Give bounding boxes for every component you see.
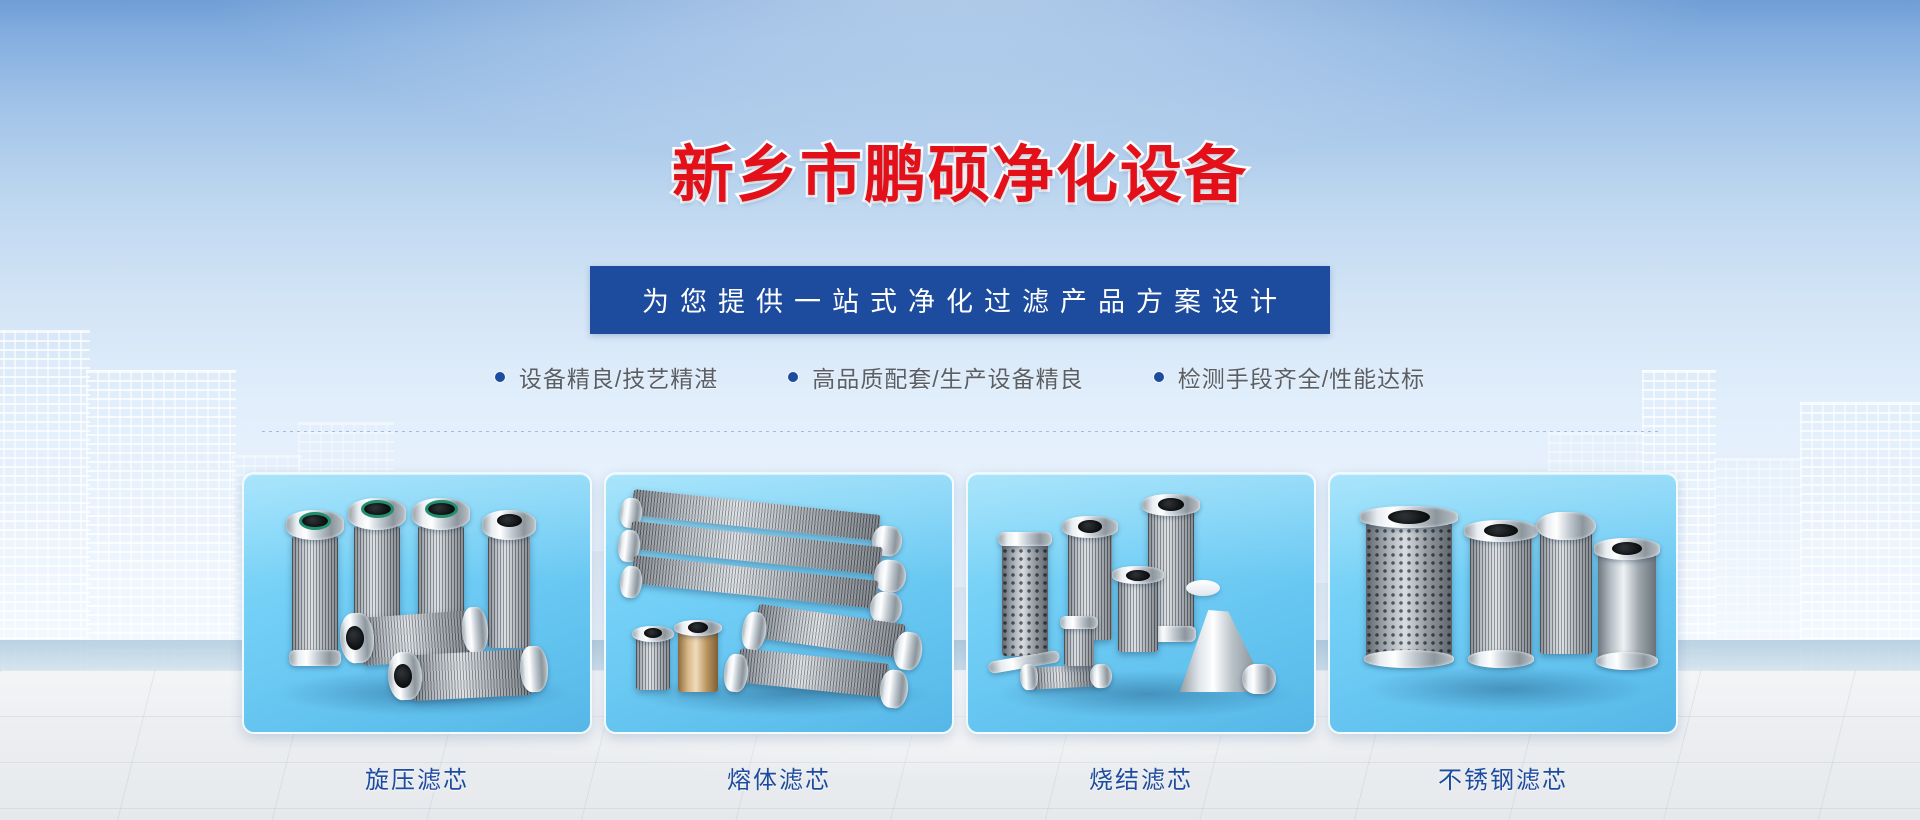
feature-item-1: 设备精良/技艺精湛 — [495, 360, 718, 394]
product-card-2[interactable]: 熔体滤芯 — [604, 472, 954, 795]
product-image-stainless-steel-filter-elements[interactable] — [1328, 472, 1678, 734]
dotted-divider — [262, 431, 1662, 432]
product-card-1[interactable]: 旋压滤芯 — [242, 472, 592, 795]
product-card-3[interactable]: 烧结滤芯 — [966, 472, 1316, 795]
feature-item-3: 检测手段齐全/性能达标 — [1154, 360, 1425, 394]
promo-banner: 新乡市鹏硕净化设备 为您提供一站式净化过滤产品方案设计 设备精良/技艺精湛 高品… — [0, 0, 1920, 820]
feature-item-2: 高品质配套/生产设备精良 — [788, 360, 1083, 394]
bullet-dot-icon — [495, 372, 505, 382]
product-label: 旋压滤芯 — [242, 760, 592, 795]
subtitle-bar-wrapper: 为您提供一站式净化过滤产品方案设计 — [0, 266, 1920, 334]
product-label: 烧结滤芯 — [966, 760, 1316, 795]
feature-label: 检测手段齐全/性能达标 — [1178, 360, 1425, 394]
product-image-sintered-filter-elements[interactable] — [966, 472, 1316, 734]
subtitle-bar: 为您提供一站式净化过滤产品方案设计 — [590, 266, 1330, 334]
page-title: 新乡市鹏硕净化设备 — [0, 140, 1920, 210]
bullet-dot-icon — [1154, 372, 1164, 382]
product-label: 不锈钢滤芯 — [1328, 760, 1678, 795]
feature-label: 高品质配套/生产设备精良 — [812, 360, 1083, 394]
feature-label: 设备精良/技艺精湛 — [519, 360, 718, 394]
product-image-melt-filter-elements[interactable] — [604, 472, 954, 734]
feature-list: 设备精良/技艺精湛 高品质配套/生产设备精良 检测手段齐全/性能达标 — [0, 360, 1920, 394]
product-card-list: 旋压滤芯 — [0, 472, 1920, 795]
product-label: 熔体滤芯 — [604, 760, 954, 795]
product-card-4[interactable]: 不锈钢滤芯 — [1328, 472, 1678, 795]
product-image-spin-formed-filter-elements[interactable] — [242, 472, 592, 734]
bullet-dot-icon — [788, 372, 798, 382]
